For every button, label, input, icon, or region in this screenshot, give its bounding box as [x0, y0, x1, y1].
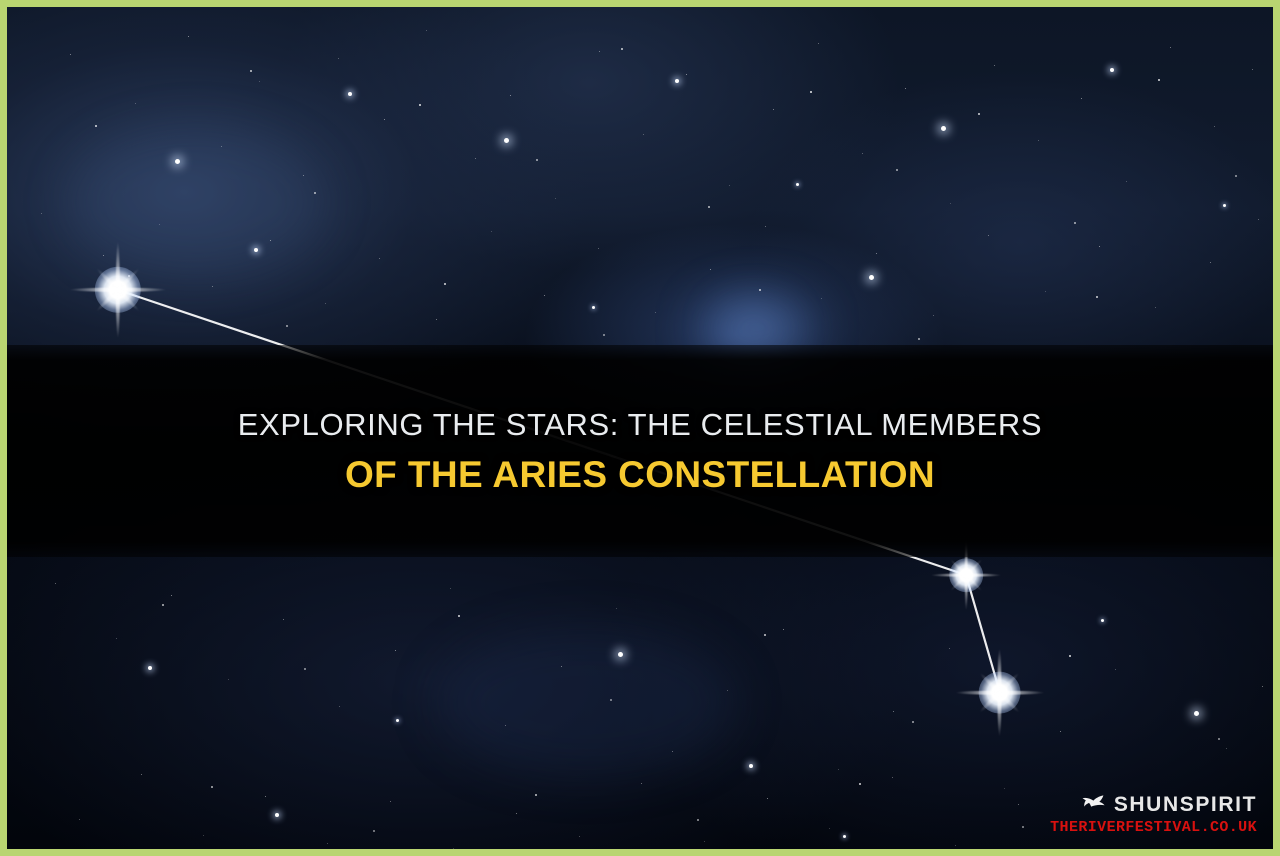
watermark: SHUNSPIRIT THERIVERFESTIVAL.CO.UK	[1050, 794, 1257, 835]
watermark-url: THERIVERFESTIVAL.CO.UK	[1050, 820, 1257, 835]
starfield-medium	[7, 7, 9, 9]
hero-banner: EXPLORING THE STARS: THE CELESTIAL MEMBE…	[0, 0, 1280, 856]
page-title-line-2: OF THE ARIES CONSTELLATION	[345, 456, 935, 493]
watermark-brand-name: SHUNSPIRIT	[1114, 794, 1257, 815]
title-overlay-band: EXPLORING THE STARS: THE CELESTIAL MEMBE…	[7, 345, 1273, 557]
page-title-line-1: EXPLORING THE STARS: THE CELESTIAL MEMBE…	[238, 409, 1042, 440]
bird-icon	[1081, 794, 1107, 815]
watermark-brand-row: SHUNSPIRIT	[1050, 794, 1257, 815]
